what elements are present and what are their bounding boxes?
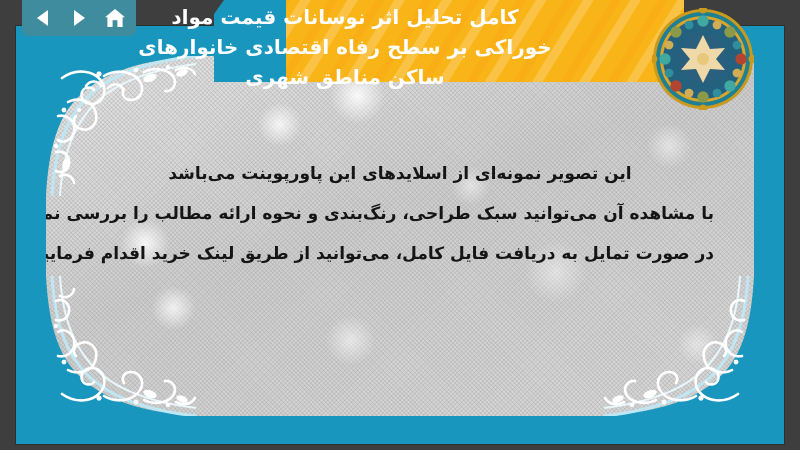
corner-arabesque-ornament-bottom-right — [604, 276, 754, 416]
home-icon — [104, 8, 126, 29]
banner-teal-cap — [214, 0, 292, 82]
slide-body-text: این تصویر نمونه‌ای از اسلایدهای این پاور… — [86, 154, 714, 274]
body-line-3: در صورت تمایل به دریافت فایل کامل، می‌تو… — [86, 234, 714, 274]
slide-content-area: این تصویر نمونه‌ای از اسلایدهای این پاور… — [46, 56, 754, 416]
banner-orange-ribbon — [286, 0, 684, 82]
slide-viewer: این تصویر نمونه‌ای از اسلایدهای این پاور… — [0, 0, 800, 450]
islamic-star-medallion-ornament — [652, 8, 754, 110]
body-line-1: این تصویر نمونه‌ای از اسلایدهای این پاور… — [86, 154, 714, 194]
previous-slide-icon — [34, 8, 52, 28]
home-button[interactable] — [101, 4, 129, 32]
slide-navigation-toolbar — [22, 0, 136, 36]
next-slide-icon — [70, 8, 88, 28]
previous-slide-button[interactable] — [29, 4, 57, 32]
body-line-2: با مشاهده آن می‌توانید سبک طراحی، رنگ‌بن… — [86, 194, 714, 234]
next-slide-button[interactable] — [65, 4, 93, 32]
corner-arabesque-ornament-bottom-left — [46, 276, 196, 416]
title-banner — [214, 0, 684, 82]
